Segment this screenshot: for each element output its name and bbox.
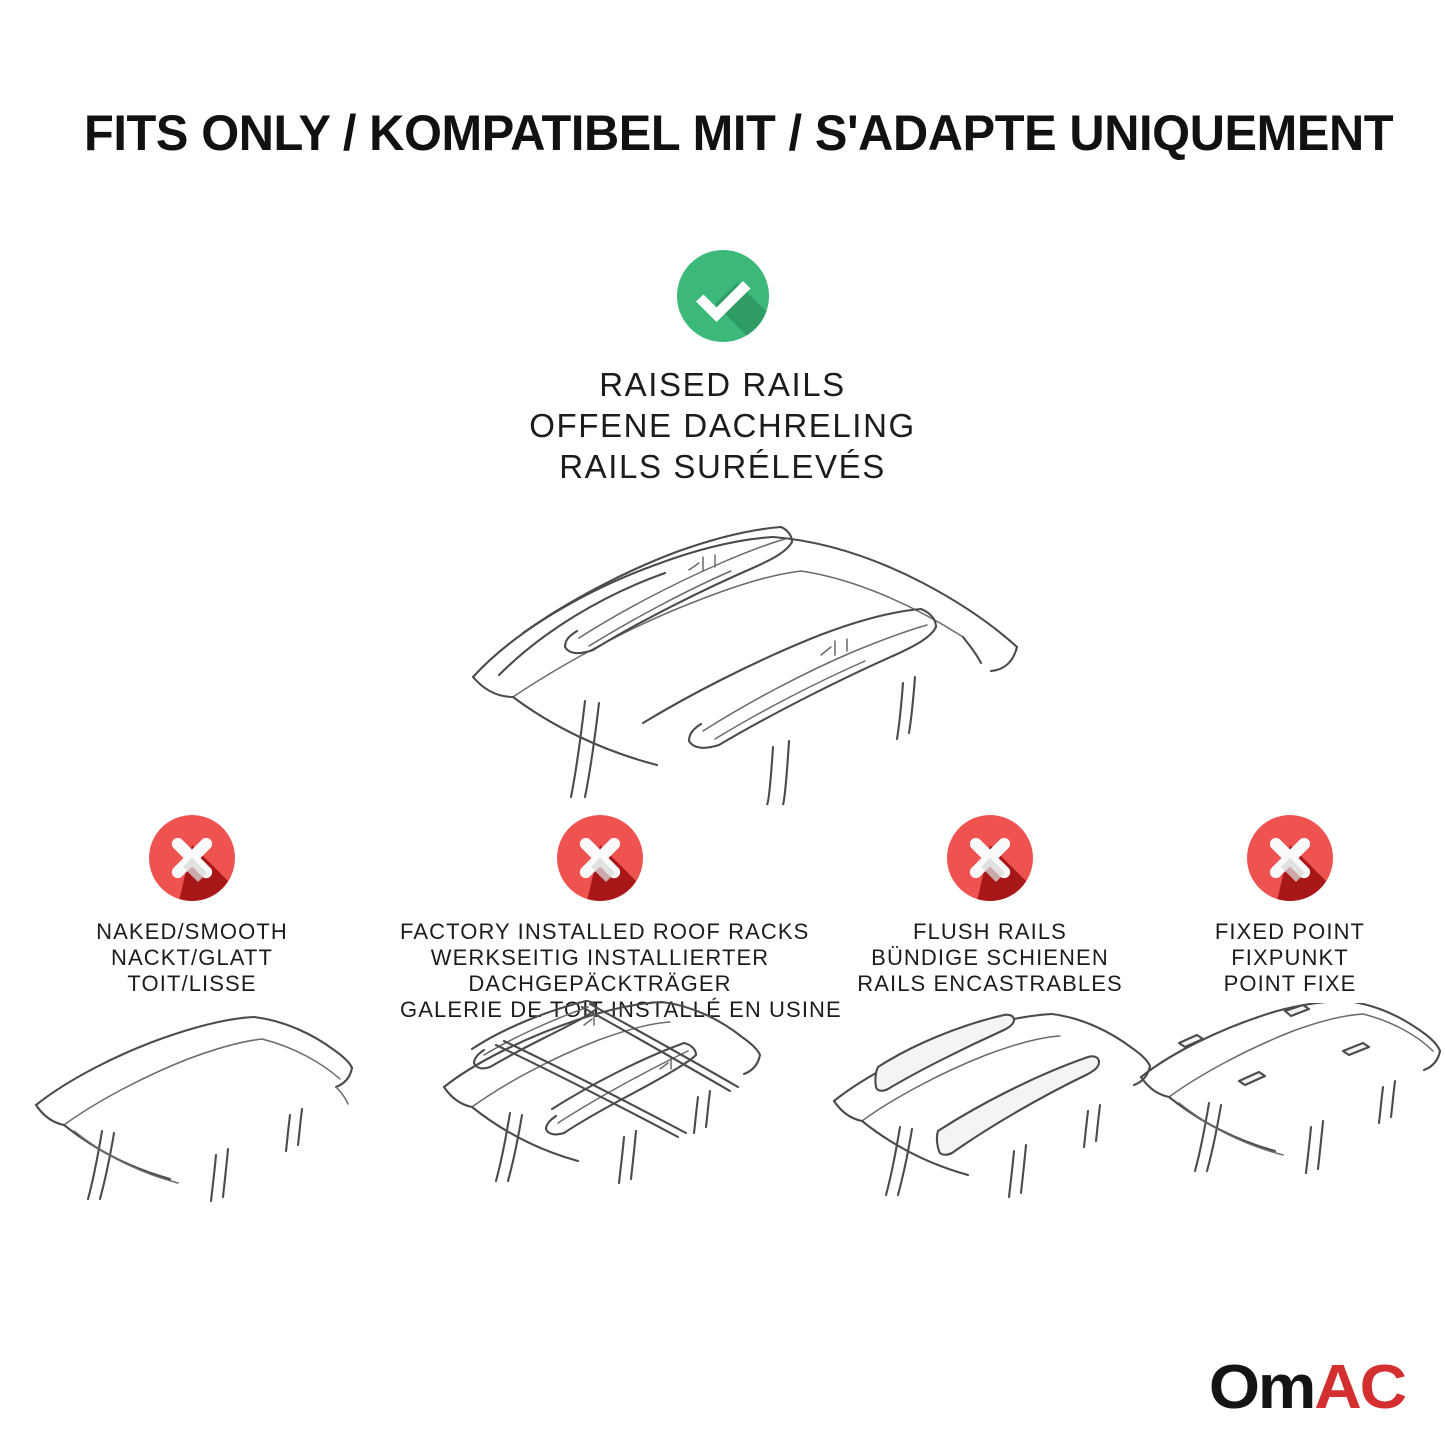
x-circle-icon (1247, 815, 1333, 901)
label-line-en: FLUSH RAILS (820, 919, 1160, 945)
compatible-section: RAISED RAILS OFFENE DACHRELING RAILS SUR… (0, 250, 1445, 487)
label-line-fr: POINT FIXE (1140, 971, 1440, 997)
compatible-label: RAISED RAILS OFFENE DACHRELING RAILS SUR… (0, 364, 1445, 487)
compatible-line-fr: RAILS SURÉLEVÉS (0, 446, 1445, 487)
x-glyph (1247, 815, 1333, 901)
compatible-line-de: OFFENE DACHRELING (0, 405, 1445, 446)
item-label: FLUSH RAILS BÜNDIGE SCHIENEN RAILS ENCAS… (820, 919, 1160, 997)
label-line-en: FACTORY INSTALLED ROOF RACKS (400, 919, 800, 945)
car-roof-factory-racks-illustration (430, 997, 770, 1227)
item-label: FIXED POINT FIXPUNKT POINT FIXE (1140, 919, 1440, 997)
compatible-line-en: RAISED RAILS (0, 364, 1445, 405)
x-badge (557, 815, 643, 901)
car-roof-flush-rails-illustration (820, 1005, 1160, 1235)
x-glyph (557, 815, 643, 901)
label-line-fr: TOIT/LISSE (22, 971, 362, 997)
incompatible-item-fixed-point: FIXED POINT FIXPUNKT POINT FIXE (1140, 815, 1440, 997)
logo-part-red: AC (1314, 1353, 1405, 1422)
check-badge (677, 250, 769, 342)
x-glyph (149, 815, 235, 901)
omac-logo: OmAC (1209, 1357, 1405, 1419)
label-line-de-1: WERKSEITIG INSTALLIERTER (400, 945, 800, 971)
car-roof-raised-rails-illustration (403, 505, 1043, 805)
x-badge (1247, 815, 1333, 901)
label-line-de: NACKT/GLATT (22, 945, 362, 971)
incompatible-item-flush-rails: FLUSH RAILS BÜNDIGE SCHIENEN RAILS ENCAS… (820, 815, 1160, 997)
car-roof-naked-illustration (22, 1005, 362, 1235)
page-title: FITS ONLY / KOMPATIBEL MIT / S'ADAPTE UN… (84, 104, 1342, 162)
check-circle-icon (677, 250, 769, 342)
check-glyph (677, 250, 769, 342)
x-badge (149, 815, 235, 901)
label-line-en: NAKED/SMOOTH (22, 919, 362, 945)
label-line-en: FIXED POINT (1140, 919, 1440, 945)
item-label: NAKED/SMOOTH NACKT/GLATT TOIT/LISSE (22, 919, 362, 997)
label-line-de: BÜNDIGE SCHIENEN (820, 945, 1160, 971)
x-circle-icon (557, 815, 643, 901)
x-glyph (947, 815, 1033, 901)
incompatible-item-factory-racks: FACTORY INSTALLED ROOF RACKS WERKSEITIG … (400, 815, 800, 1023)
car-roof-fixed-point-illustration (1135, 1003, 1445, 1233)
fitment-infographic: FITS ONLY / KOMPATIBEL MIT / S'ADAPTE UN… (0, 0, 1445, 1445)
x-circle-icon (947, 815, 1033, 901)
label-line-fr: RAILS ENCASTRABLES (820, 971, 1160, 997)
incompatible-item-naked: NAKED/SMOOTH NACKT/GLATT TOIT/LISSE (22, 815, 362, 997)
x-badge (947, 815, 1033, 901)
label-line-de: FIXPUNKT (1140, 945, 1440, 971)
logo-part-dark: Om (1209, 1353, 1314, 1422)
x-circle-icon (149, 815, 235, 901)
label-line-de-2: DACHGEPÄCKTRÄGER (400, 971, 800, 997)
